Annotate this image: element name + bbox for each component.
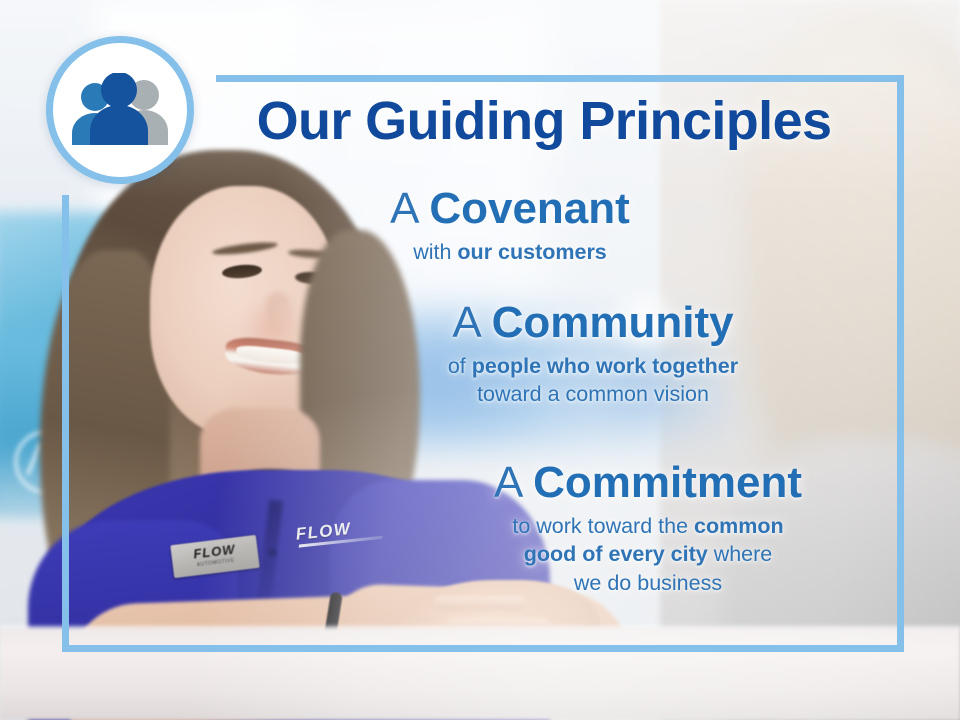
principle-commitment-keyword: Commitment	[533, 458, 802, 507]
principle-subtext-line: good of every city where	[418, 540, 878, 569]
principle-covenant-heading: A Covenant	[300, 186, 720, 232]
principle-community: A Community of people who work togethert…	[368, 300, 818, 409]
subtext-run: toward a common vision	[477, 382, 709, 406]
principle-covenant-keyword: Covenant	[429, 184, 629, 233]
principle-community-keyword: Community	[492, 298, 734, 347]
subtext-run: to work toward the	[512, 514, 694, 538]
people-group-badge	[46, 36, 194, 184]
page-title: Our Guiding Principles	[214, 94, 874, 148]
principle-covenant-lead: A	[390, 184, 417, 233]
subtext-emphasis: our customers	[457, 240, 606, 264]
principle-covenant-subtext: with our customers	[300, 238, 720, 267]
principle-community-subtext: of people who work togethertoward a comm…	[368, 352, 818, 409]
principle-community-lead: A	[452, 298, 479, 347]
people-group-icon	[68, 73, 172, 147]
principle-commitment-heading: A Commitment	[418, 460, 878, 506]
principle-subtext-line: to work toward the common	[418, 512, 878, 541]
subtext-run: with	[413, 240, 457, 264]
guiding-principles-graphic: FLOW AUTOMOTIVE FLOW	[0, 0, 960, 720]
principle-commitment-lead: A	[494, 458, 521, 507]
principle-covenant: A Covenant with our customers	[300, 186, 720, 266]
principle-subtext-line: toward a common vision	[368, 380, 818, 409]
subtext-run: we do business	[574, 571, 722, 595]
subtext-emphasis: common	[694, 514, 784, 538]
principle-subtext-line: with our customers	[300, 238, 720, 267]
principle-commitment-subtext: to work toward the commongood of every c…	[418, 512, 878, 598]
principle-subtext-line: we do business	[418, 569, 878, 598]
subtext-run: where	[708, 542, 773, 566]
subtext-emphasis: good of every city	[524, 542, 708, 566]
principle-community-heading: A Community	[368, 300, 818, 346]
principle-commitment: A Commitment to work toward the commongo…	[418, 460, 878, 598]
principle-subtext-line: of people who work together	[368, 352, 818, 381]
subtext-run: of	[448, 354, 472, 378]
subtext-emphasis: people who work together	[472, 354, 738, 378]
